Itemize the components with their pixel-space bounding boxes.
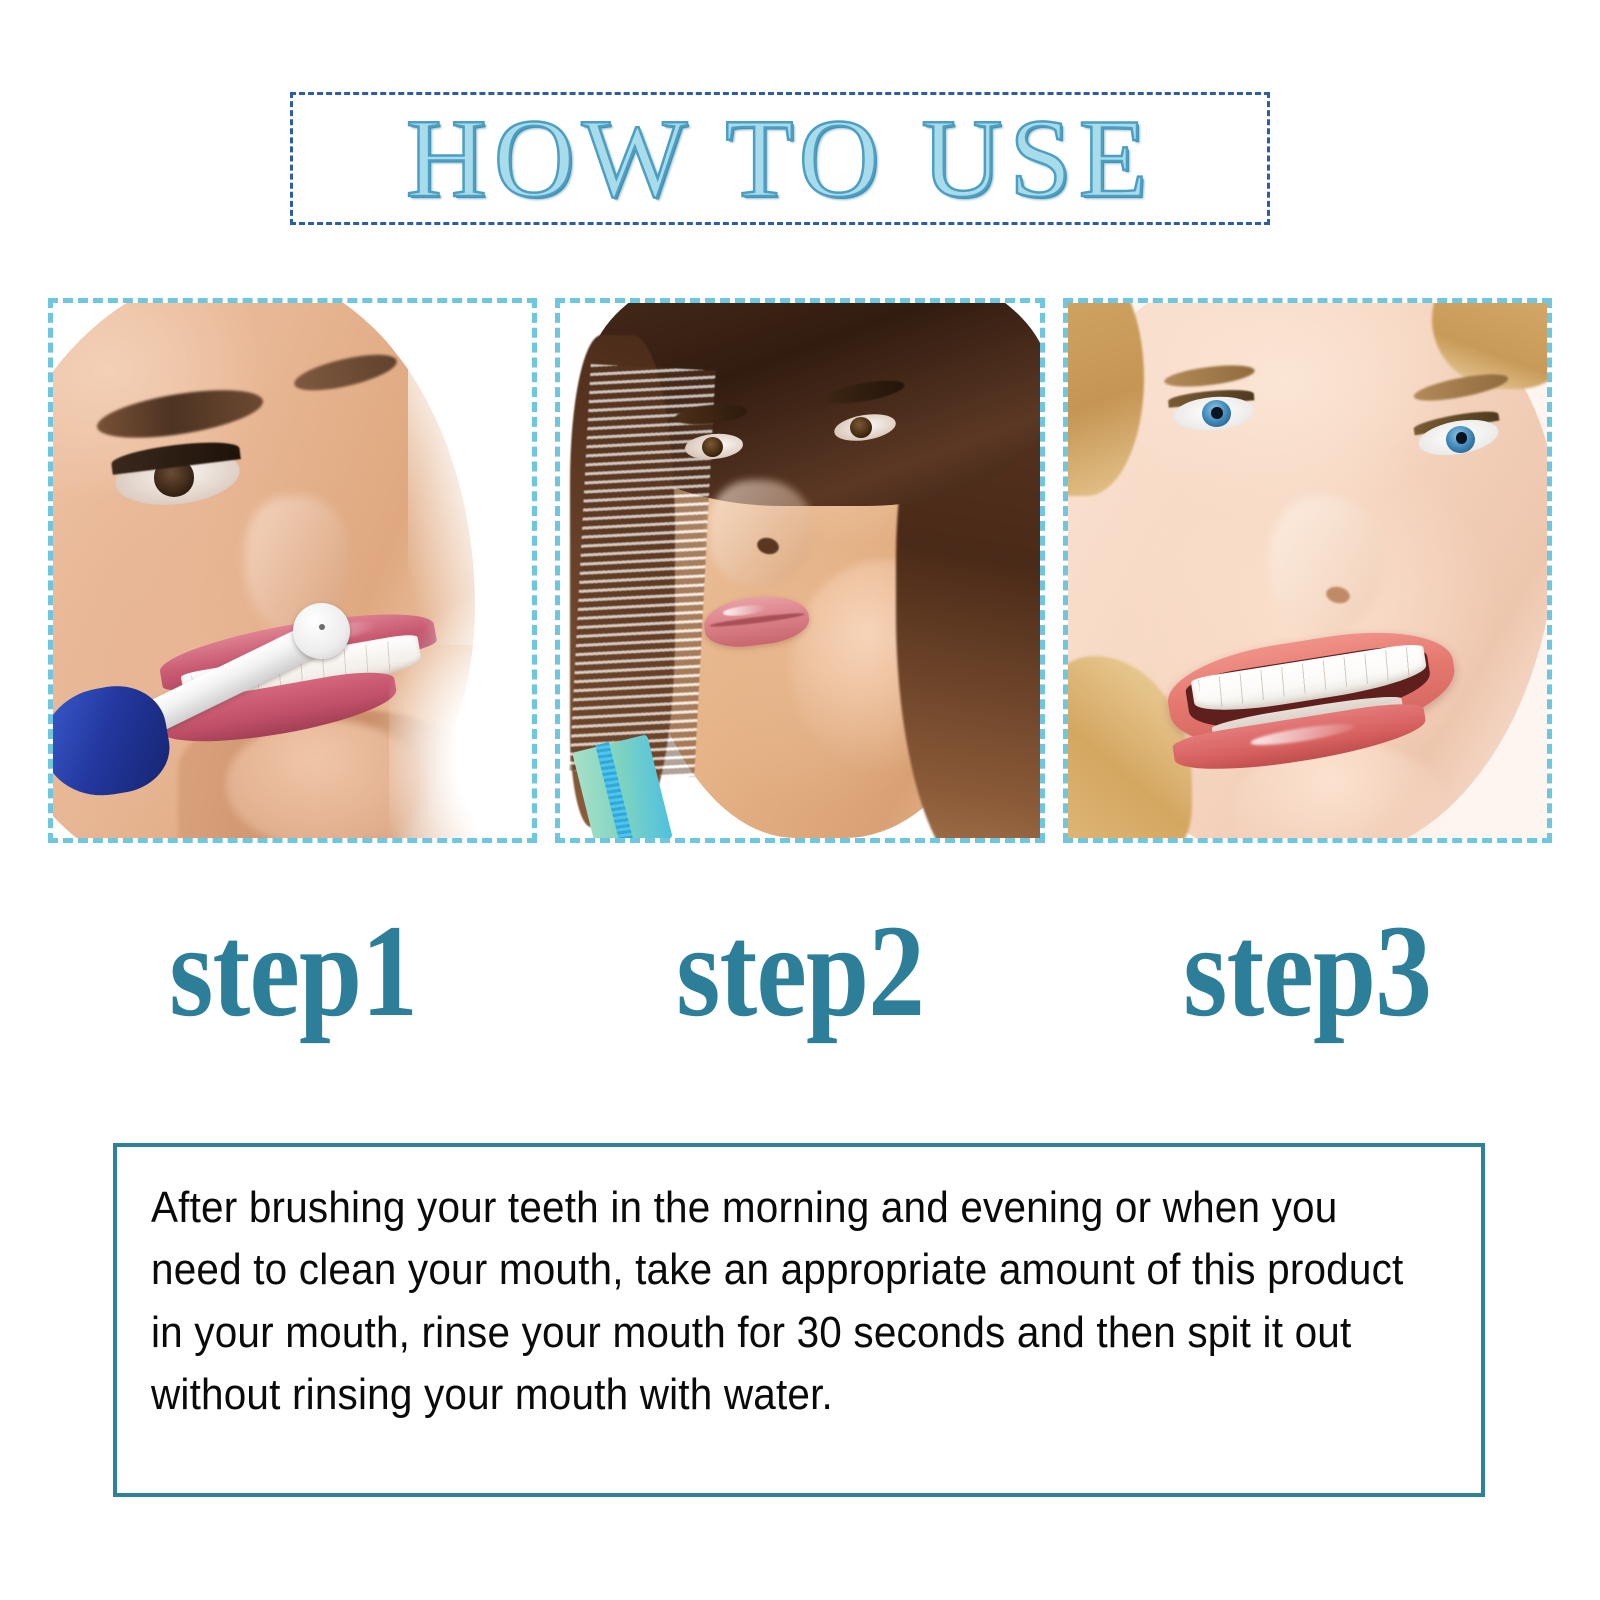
step-label-cell-2: step2 [555,898,1044,1043]
toothbrush-head-icon [293,603,351,659]
step-label-2: step2 [676,905,924,1037]
step-images-row [48,298,1552,843]
step-image-panel-3 [1063,298,1552,843]
step-labels-row: step1 step2 step3 [48,898,1552,1043]
smiling-clean-teeth-photo [1068,303,1547,838]
step-label-3: step3 [1183,905,1431,1037]
step-label-cell-3: step3 [1063,898,1552,1043]
step-label-cell-1: step1 [48,898,537,1043]
brushing-teeth-photo [53,303,532,838]
step-image-panel-1 [48,298,537,843]
instructions-box: After brushing your teeth in the morning… [113,1143,1485,1497]
step-label-1: step1 [169,905,417,1037]
title-box: HOW TO USE [290,92,1270,225]
page-title: HOW TO USE [406,103,1154,215]
step-image-panel-2 [555,298,1044,843]
instructions-text: After brushing your teeth in the morning… [151,1177,1439,1427]
rinsing-mouth-photo [560,303,1039,838]
